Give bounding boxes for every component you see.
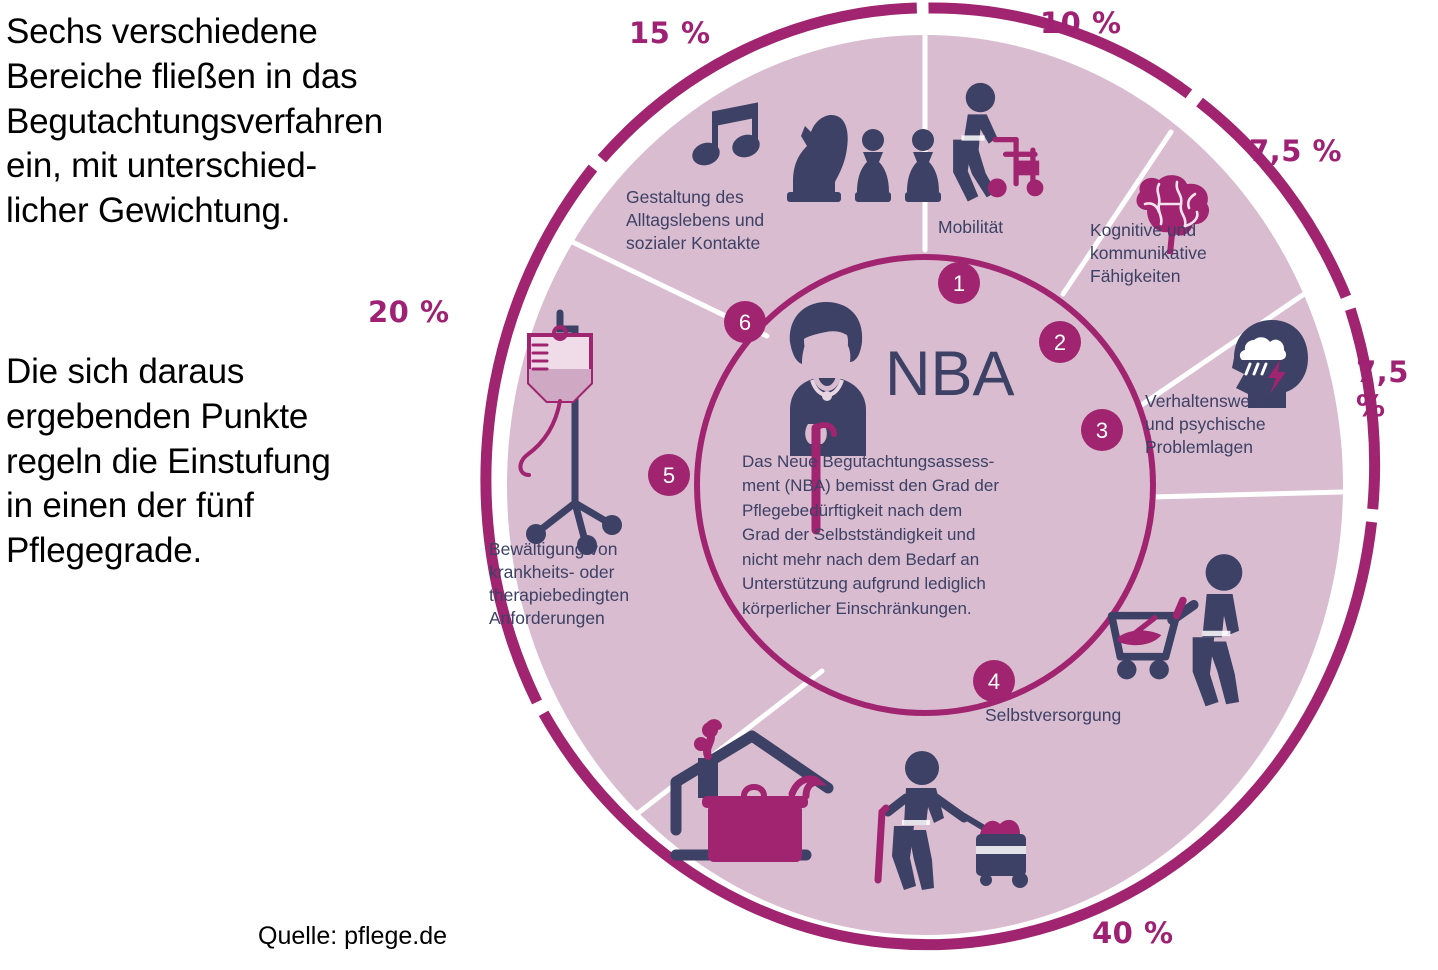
segment-label-kognitive: Kognitive und kommunikative Fähigkeiten (1090, 219, 1270, 288)
module-node-3-label: 3 (1096, 418, 1108, 443)
module-node-4-label: 4 (988, 669, 1000, 694)
percent-label-15: 15 % (629, 16, 711, 50)
infographic-canvas: Sechs verschiedene Bereiche fließen in d… (0, 0, 1438, 970)
percent-label-40: 40 % (1092, 916, 1174, 950)
module-node-1-label: 1 (953, 271, 965, 296)
segment-label-verhaltensweisen: Verhaltensweisen und psychische Probleml… (1145, 390, 1335, 459)
nba-description: Das Neue Begutachtungsassess- ment (NBA)… (742, 450, 1056, 621)
module-node-6[interactable]: 6 (724, 301, 766, 343)
module-node-6-label: 6 (739, 310, 751, 335)
module-node-2[interactable]: 2 (1039, 321, 1081, 363)
percent-label-20: 20 % (368, 295, 450, 329)
segment-label-selbstversorgung: Selbstversorgung (985, 704, 1185, 727)
module-node-4[interactable]: 4 (973, 660, 1015, 702)
module-node-5[interactable]: 5 (648, 454, 690, 496)
module-node-3[interactable]: 3 (1081, 409, 1123, 451)
percent-label-75-a: 7,5 % (1249, 134, 1342, 168)
module-node-1[interactable]: 1 (938, 262, 980, 304)
nba-wheel: 1 2 3 4 5 6 (0, 0, 1438, 970)
segment-label-gestaltung: Gestaltung des Alltagslebens und soziale… (626, 186, 826, 255)
nba-acronym: NBA (885, 338, 1015, 410)
percent-label-75-b: 7,5 % (1356, 355, 1438, 423)
segment-label-bewaeltigung: Bewältigung von krankheits- oder therapi… (489, 538, 689, 630)
module-node-2-label: 2 (1054, 330, 1066, 355)
module-node-5-label: 5 (663, 463, 675, 488)
percent-label-10: 10 % (1040, 6, 1122, 40)
